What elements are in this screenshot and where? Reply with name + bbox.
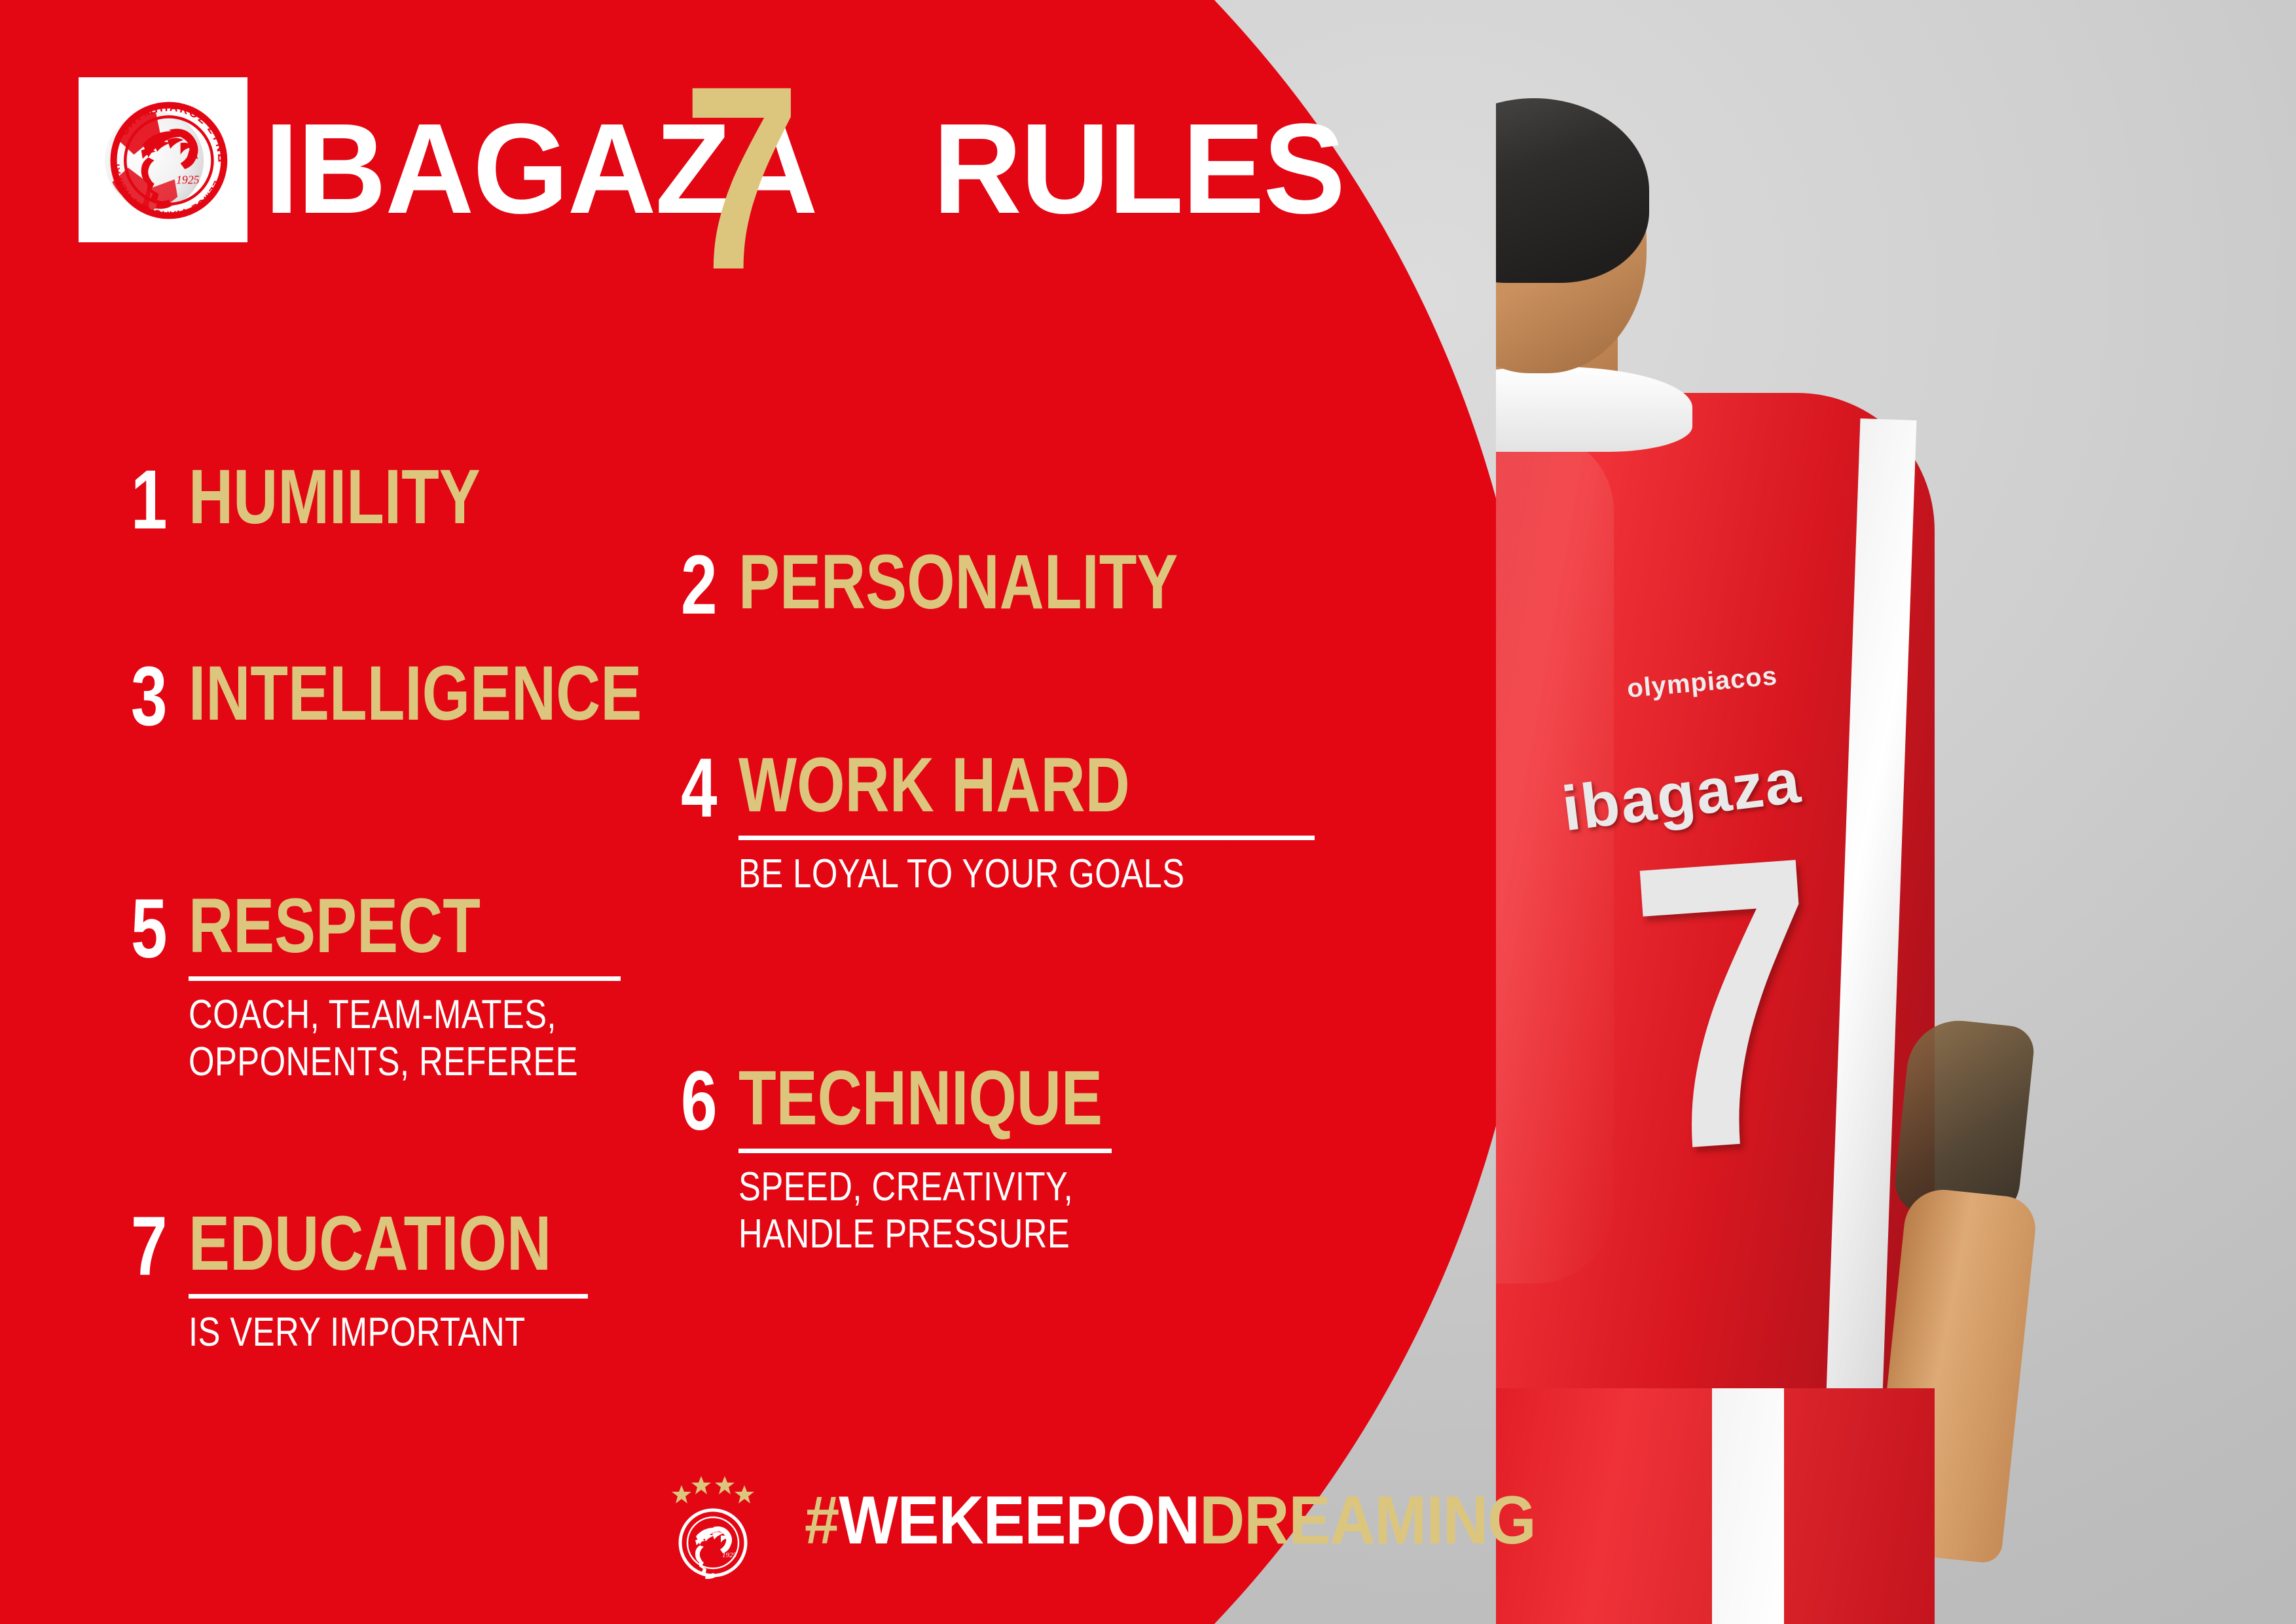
jersey-highlight — [1496, 432, 1614, 1283]
rule-divider — [189, 976, 621, 981]
olympiacos-crest-icon: 1925 ΟΛΥΜΠΙΑΚΟΣ ΣΥΝΔ ΕΣΜΟΣ ΦΙΛΑΘΛΩΝ ΠΕΙΡ… — [90, 88, 236, 233]
championship-stars-icon — [672, 1476, 754, 1504]
rule-number: 1 — [131, 458, 164, 542]
rule-number: 6 — [681, 1060, 714, 1143]
rule-name: WORK HARD — [738, 747, 1199, 824]
hair — [1496, 98, 1649, 283]
rule-name: TECHNIQUE — [738, 1060, 1102, 1137]
rule-number: 3 — [131, 655, 164, 739]
rule-subtitle: BE LOYAL TO YOUR GOALS — [738, 851, 1211, 898]
hashtag-white-part: WEKEEPON — [839, 1483, 1199, 1559]
title-seven-number: 7 — [683, 71, 800, 286]
poster-canvas: olympiacos ibagaza 7 — [0, 0, 2296, 1624]
rule-item-4: 4 WORK HARD BE LOYAL TO YOUR GOALS — [681, 747, 1315, 898]
rule-subtitle: SPEED, CREATIVITY, HANDLE PRESSURE — [738, 1164, 1112, 1258]
rule-name: PERSONALITY — [738, 544, 1178, 621]
rule-name: HUMILITY — [189, 458, 481, 536]
footer-bar: 1925 #WEKEEPONDREAMING — [665, 1462, 1599, 1579]
rule-item-5: 5 RESPECT COACH, TEAM-MATES, OPPONENTS, … — [131, 887, 664, 1086]
rule-divider — [189, 1294, 588, 1299]
rule-item-1: 1 HUMILITY — [131, 458, 553, 542]
player-photo: olympiacos ibagaza 7 — [1496, 0, 2296, 1624]
rule-name: INTELLIGENCE — [189, 655, 642, 732]
rule-number: 7 — [131, 1205, 164, 1289]
rule-number: 4 — [681, 747, 714, 830]
club-logo-box: 1925 ΟΛΥΜΠΙΑΚΟΣ ΣΥΝΔ ΕΣΜΟΣ ΦΙΛΑΘΛΩΝ ΠΕΙΡ… — [79, 77, 247, 242]
rule-number: 2 — [681, 544, 714, 627]
rule-item-3: 3 INTELLIGENCE — [131, 655, 755, 739]
footer-crest-wrapper: 1925 — [665, 1462, 761, 1579]
svg-text:1925: 1925 — [176, 174, 200, 187]
jersey-collar — [1496, 367, 1692, 452]
page-title: IBAGAZA RULES 7 — [264, 109, 1361, 229]
title-rules-word: RULES — [933, 109, 1344, 229]
rule-divider — [738, 836, 1315, 840]
svg-text:1925: 1925 — [722, 1551, 737, 1559]
rule-name: EDUCATION — [189, 1205, 551, 1282]
hashtag-text: #WEKEEPONDREAMING — [805, 1486, 1536, 1555]
rule-name: RESPECT — [189, 887, 568, 965]
jersey-number-text: 7 — [1624, 832, 1832, 1177]
rule-number: 5 — [131, 887, 164, 971]
rule-item-6: 6 TECHNIQUE SPEED, CREATIVITY, HANDLE PR… — [681, 1060, 1194, 1258]
shorts-stripe — [1712, 1388, 1784, 1624]
rule-item-7: 7 EDUCATION IS VERY IMPORTANT — [131, 1205, 642, 1356]
rule-subtitle: COACH, TEAM-MATES, OPPONENTS, REFEREE — [189, 991, 578, 1086]
hashtag-symbol: # — [805, 1483, 839, 1559]
olympiacos-crest-white-icon: 1925 — [665, 1462, 761, 1579]
rule-item-2: 2 PERSONALITY — [681, 544, 1288, 627]
rule-subtitle: IS VERY IMPORTANT — [189, 1309, 560, 1356]
rule-divider — [738, 1149, 1112, 1153]
hashtag-gold-part: DREAMING — [1199, 1483, 1536, 1559]
